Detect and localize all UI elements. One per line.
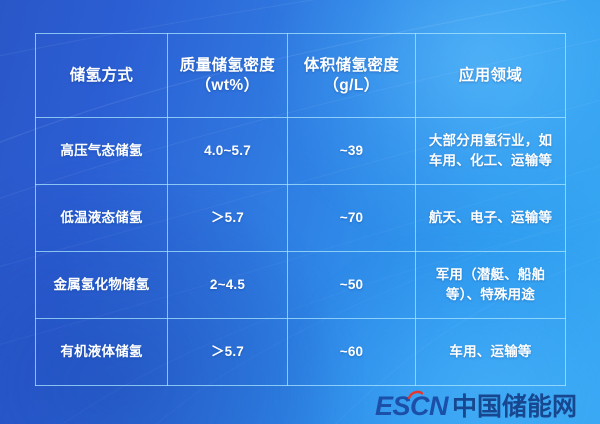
- cell-application: 大部分用氢行业，如 车用、化工、运输等: [416, 118, 566, 185]
- screenshot-root: 储氢方式 质量储氢密度 （wt%） 体积储氢密度 （g/L） 应用领域: [0, 0, 600, 424]
- cell-application-line1: 军用（潜艇、船舶: [422, 265, 559, 285]
- cell-mass-density: 4.0~5.7: [168, 118, 288, 185]
- cell-application: 军用（潜艇、船舶 等）、特殊用途: [416, 252, 566, 319]
- watermark-logo: ESCN 中国储能网: [375, 393, 577, 420]
- table-row: 低温液态储氢 ＞5.7 ~70 航天、电子、运输等: [36, 185, 566, 252]
- cell-volume-density: ~50: [288, 252, 416, 319]
- cell-application-line2: 车用、化工、运输等: [422, 151, 559, 171]
- column-header-volume-density-line1: 体积储氢密度: [294, 56, 409, 76]
- watermark-brand-latin-text: ESCN: [375, 391, 448, 421]
- cell-application-line1: 车用、运输等: [422, 342, 559, 362]
- column-header-application-line1: 应用领域: [422, 66, 559, 86]
- column-header-application: 应用领域: [416, 34, 566, 118]
- column-header-method: 储氢方式: [36, 34, 168, 118]
- column-header-method-line1: 储氢方式: [42, 66, 161, 86]
- cell-application-line1: 航天、电子、运输等: [422, 208, 559, 228]
- column-header-mass-density-line1: 质量储氢密度: [174, 56, 281, 76]
- cell-method: 低温液态储氢: [36, 185, 168, 252]
- watermark-brand-chinese: 中国储能网: [452, 394, 577, 419]
- column-header-volume-density: 体积储氢密度 （g/L）: [288, 34, 416, 118]
- hydrogen-storage-table: 储氢方式 质量储氢密度 （wt%） 体积储氢密度 （g/L） 应用领域: [35, 33, 566, 386]
- cell-mass-density: 2~4.5: [168, 252, 288, 319]
- watermark-brand-latin: ESCN: [375, 393, 448, 420]
- cell-volume-density: ~60: [288, 319, 416, 386]
- cell-method: 有机液体储氢: [36, 319, 168, 386]
- cell-mass-density: ＞5.7: [168, 185, 288, 252]
- cell-method: 金属氢化物储氢: [36, 252, 168, 319]
- column-header-volume-density-line2: （g/L）: [294, 76, 409, 96]
- cell-application-line2: 等）、特殊用途: [422, 285, 559, 305]
- cell-mass-density: ＞5.7: [168, 319, 288, 386]
- column-header-mass-density: 质量储氢密度 （wt%）: [168, 34, 288, 118]
- cell-volume-density: ~70: [288, 185, 416, 252]
- cell-application: 车用、运输等: [416, 319, 566, 386]
- table-row: 高压气态储氢 4.0~5.7 ~39 大部分用氢行业，如 车用、化工、运输等: [36, 118, 566, 185]
- hydrogen-storage-table-container: 储氢方式 质量储氢密度 （wt%） 体积储氢密度 （g/L） 应用领域: [35, 33, 565, 386]
- cell-method: 高压气态储氢: [36, 118, 168, 185]
- table-row: 金属氢化物储氢 2~4.5 ~50 军用（潜艇、船舶 等）、特殊用途: [36, 252, 566, 319]
- cell-application-line1: 大部分用氢行业，如: [422, 131, 559, 151]
- column-header-mass-density-line2: （wt%）: [174, 76, 281, 96]
- table-header-row: 储氢方式 质量储氢密度 （wt%） 体积储氢密度 （g/L） 应用领域: [36, 34, 566, 118]
- cell-application: 航天、电子、运输等: [416, 185, 566, 252]
- table-row: 有机液体储氢 ＞5.7 ~60 车用、运输等: [36, 319, 566, 386]
- cell-volume-density: ~39: [288, 118, 416, 185]
